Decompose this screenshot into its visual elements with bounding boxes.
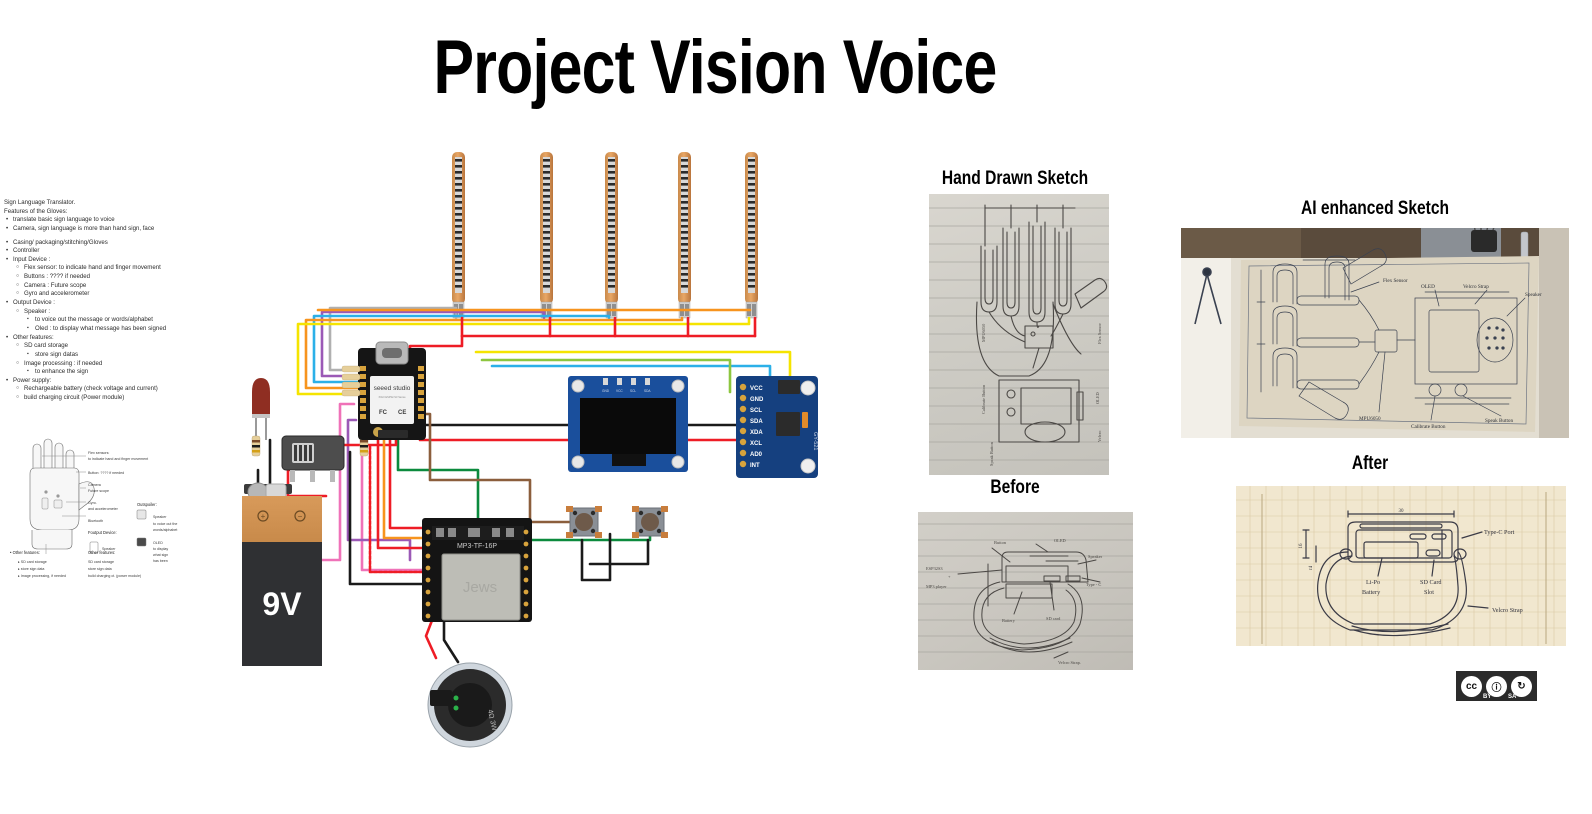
resistor-1: [252, 436, 260, 456]
notes-line: Power supply:: [4, 377, 204, 386]
ai-enhanced-sketch-photo: Flex Sensor OLED Velcro Strap Speaker MP…: [1181, 228, 1569, 438]
hd-label-calibrate-button: Calibrate Button: [981, 384, 986, 414]
glove-other-features-mid: Other features:: [88, 550, 115, 555]
svg-text:and accelerometer: and accelerometer: [88, 507, 119, 511]
notes-line: Camera : Future scope: [4, 282, 204, 291]
push-button-2: [632, 506, 668, 538]
hand-drawn-sketch-photo: MPU6050 Flex Sensor Calibrate Button OLE…: [929, 194, 1109, 475]
svg-text:has been: has been: [153, 559, 168, 563]
notes-line: Gyro and accelerometer: [4, 290, 204, 299]
ai-label-calibrate-button: Calibrate Button: [1411, 424, 1446, 430]
svg-text:Speaker: Speaker: [153, 515, 167, 519]
svg-text:what sign: what sign: [153, 553, 168, 557]
svg-text:to voice out the: to voice out the: [153, 522, 177, 526]
notes-line: Buttons : ???? if needed: [4, 273, 204, 282]
before-label-esp32: ESP32S3: [926, 566, 943, 571]
requirements-notes: Sign Language Translator.Features of the…: [4, 199, 204, 403]
oled-pin-sda: SDA: [644, 389, 651, 393]
svg-text:▸ Image processing, if needed: ▸ Image processing, if needed: [18, 574, 66, 578]
notes-line: store sign datas: [4, 351, 204, 360]
mpu-pin-gnd: GND: [750, 397, 764, 403]
push-button-1: [566, 506, 602, 538]
mp3-watermark: Jews: [463, 579, 497, 596]
svg-text:Future scope: Future scope: [88, 489, 109, 493]
glove-label-bluetooth: Bluetooth: [88, 519, 103, 523]
hd-label-velcro: Velcro: [1097, 430, 1102, 442]
ai-label-speaker: Speaker: [1525, 292, 1542, 298]
notes-line: build charging circuit (Power module): [4, 394, 204, 403]
after-label-lipo-1: Li-Po: [1366, 579, 1380, 586]
before-label-battery: Battery: [1002, 618, 1016, 623]
heading-hand-drawn-sketch: Hand Drawn Sketch: [896, 168, 1134, 190]
poster-canvas: Project Vision Voice Sign Language Trans…: [0, 0, 1592, 814]
power-slide-switch: [282, 436, 344, 482]
before-label-speaker: Speaker: [1088, 554, 1103, 559]
cc-icon: cc: [1461, 676, 1482, 697]
heading-ai-enhanced-sketch: AI enhanced Sketch: [1223, 198, 1526, 220]
before-label-oled: OLED: [1054, 538, 1066, 543]
heading-before: Before: [921, 477, 1110, 499]
after-dim-r4: r4: [1309, 565, 1314, 570]
glove-label-camera: Camera: [88, 483, 101, 487]
svg-text:▸ SD card storage: ▸ SD card storage: [18, 560, 47, 564]
glove-label-outspoiler: Outspoiler:: [137, 502, 157, 507]
mpu6050-module: VCC GND SCL SDA XDA XCL AD0 INT GY-521: [736, 376, 818, 478]
notes-line: Image processing : if needed: [4, 360, 204, 369]
notes-line: Other features:: [4, 334, 204, 343]
svg-text:words/alphabet: words/alphabet: [153, 528, 177, 532]
heading-after: After: [1268, 453, 1473, 475]
before-label-mp3: MP3 player: [926, 584, 947, 589]
svg-text:XIAO ESP32-S3 Sense: XIAO ESP32-S3 Sense: [378, 395, 406, 399]
mpu-pin-xcl: XCL: [750, 441, 762, 447]
mpu-pin-sda: SDA: [750, 419, 763, 425]
notes-line: Input Device :: [4, 256, 204, 265]
mcu-fcc-mark: FC: [379, 410, 388, 416]
mpu-pin-vcc: VCC: [750, 386, 763, 392]
notes-line: Speaker :: [4, 308, 204, 317]
before-label-velcro: Velcro Strap.: [1058, 660, 1081, 665]
glove-label-flex: Flex sensors:: [88, 451, 109, 455]
hd-label-flex-sensor: Flex Sensor: [1097, 323, 1102, 344]
glove-other-features-left: • Other features:: [10, 550, 40, 555]
glove-label-gyro: Gyro.: [88, 501, 97, 505]
mpu-board-label: GY-521: [812, 432, 818, 450]
notes-line: SD card storage: [4, 342, 204, 351]
ai-label-flex-sensor: Flex Sensor: [1383, 278, 1408, 284]
notes-line: Controller: [4, 247, 204, 256]
hd-label-mpu6050: MPU6050: [981, 323, 986, 342]
after-label-sdcard-1: SD Card: [1420, 579, 1442, 586]
notes-line: Oled : to display what message has been …: [4, 325, 204, 334]
ai-label-velcro-strap: Velcro Strap: [1463, 284, 1489, 290]
cc-by-label: BY: [1483, 694, 1491, 700]
notes-line: to enhance the sign: [4, 368, 204, 377]
led-indicator: [252, 378, 270, 440]
glove-annotation-diagram: Flex sensors: to indicate hand and finge…: [6, 434, 196, 580]
oled-pin-scl: SCL: [630, 389, 636, 393]
before-label-button: Button: [994, 540, 1007, 545]
battery-plus-sign: +: [261, 512, 266, 521]
after-label-sdcard-2: Slot: [1424, 589, 1434, 596]
mp3-sd-module: MP3-TF-16P Jews: [422, 518, 532, 622]
svg-text:build charging ct. (power modu: build charging ct. (power module): [88, 574, 141, 578]
mcu-seeed-xiao: seeed studio XIAO ESP32-S3 Sense FC CE: [358, 342, 426, 440]
glove-label-button: Button: ???? if needed: [88, 471, 124, 475]
notes-line: translate basic sign language to voice: [4, 216, 204, 225]
cc-sa-label: SA: [1508, 694, 1516, 700]
notes-line: Camera, sign language is more than hand …: [4, 225, 204, 234]
before-sketch-photo: Button OLED Speaker Type - C SD card Bat…: [918, 512, 1133, 670]
mpu-pin-xda: XDA: [750, 430, 763, 436]
after-label-velcro-strap: Velcro Strap: [1492, 607, 1523, 614]
notes-line: to voice out the message or words/alphab…: [4, 316, 204, 325]
svg-text:SD card storage: SD card storage: [88, 560, 114, 564]
oled-display-module: GND VCC SCL SDA: [568, 376, 688, 472]
mpu-pin-ad0: AD0: [750, 452, 763, 458]
before-label-plus: +: [948, 574, 951, 579]
flex-sensors: [452, 152, 758, 318]
notes-line: Casing/ packaging/stitching/Gloves: [4, 239, 204, 248]
notes-line: Features of the Gloves:: [4, 208, 204, 217]
before-label-sdcard: SD card: [1046, 616, 1061, 621]
notes-line: Output Device :: [4, 299, 204, 308]
ai-label-speak-button: Speak Button: [1485, 418, 1514, 424]
after-label-lipo-2: Battery: [1362, 589, 1381, 596]
battery-9v: + − 9V: [242, 483, 322, 666]
ai-label-mpu6050: MPU6050: [1359, 416, 1381, 422]
mcu-brand-label: seeed studio: [374, 385, 411, 392]
after-dim-16: 16: [1299, 543, 1304, 549]
after-dim-30: 30: [1399, 509, 1405, 514]
after-label-typec-port: Type-C Port: [1484, 529, 1515, 536]
notes-line: Flex sensor: to indicate hand and finger…: [4, 264, 204, 273]
svg-text:▸ store sign data: ▸ store sign data: [18, 567, 44, 571]
cc-license-badge[interactable]: cc ⓘ ↻ BY SA: [1456, 671, 1540, 701]
svg-text:store sign data: store sign data: [88, 567, 112, 571]
mcu-ce-mark: CE: [398, 410, 406, 416]
oled-pin-gnd: GND: [602, 389, 610, 393]
notes-line: Sign Language Translator.: [4, 199, 204, 208]
battery-minus-sign: −: [298, 512, 303, 521]
page-title: Project Vision Voice: [143, 24, 1287, 111]
svg-text:OLED: OLED: [153, 541, 163, 545]
battery-voltage-label: 9V: [262, 586, 302, 622]
ai-label-oled: OLED: [1421, 284, 1435, 290]
svg-text:to display: to display: [153, 547, 168, 551]
hd-label-speak-button: Speak Button: [989, 441, 994, 466]
mpu-pin-int: INT: [750, 463, 760, 469]
speaker-4ohm-3w: 4Ω 3W: [428, 663, 512, 747]
notes-line: Rechargeable battery (check voltage and …: [4, 385, 204, 394]
oled-pin-vcc: VCC: [616, 389, 623, 393]
before-label-typec: Type - C: [1086, 582, 1101, 587]
hd-label-oled: OLED: [1095, 392, 1100, 404]
glove-label-output: Foutput Device:: [88, 530, 117, 535]
mpu-pin-scl: SCL: [750, 408, 762, 414]
svg-text:to indicate hand and finger mo: to indicate hand and finger movement: [88, 457, 148, 461]
fritzing-circuit-diagram: + − 9V seeed studio XIAO ESP32-S3 Sense …: [230, 140, 870, 770]
mp3-module-label: MP3-TF-16P: [457, 543, 497, 550]
after-blueprint-drawing: Type-C Port Li-Po Battery SD Card Slot V…: [1236, 486, 1566, 646]
